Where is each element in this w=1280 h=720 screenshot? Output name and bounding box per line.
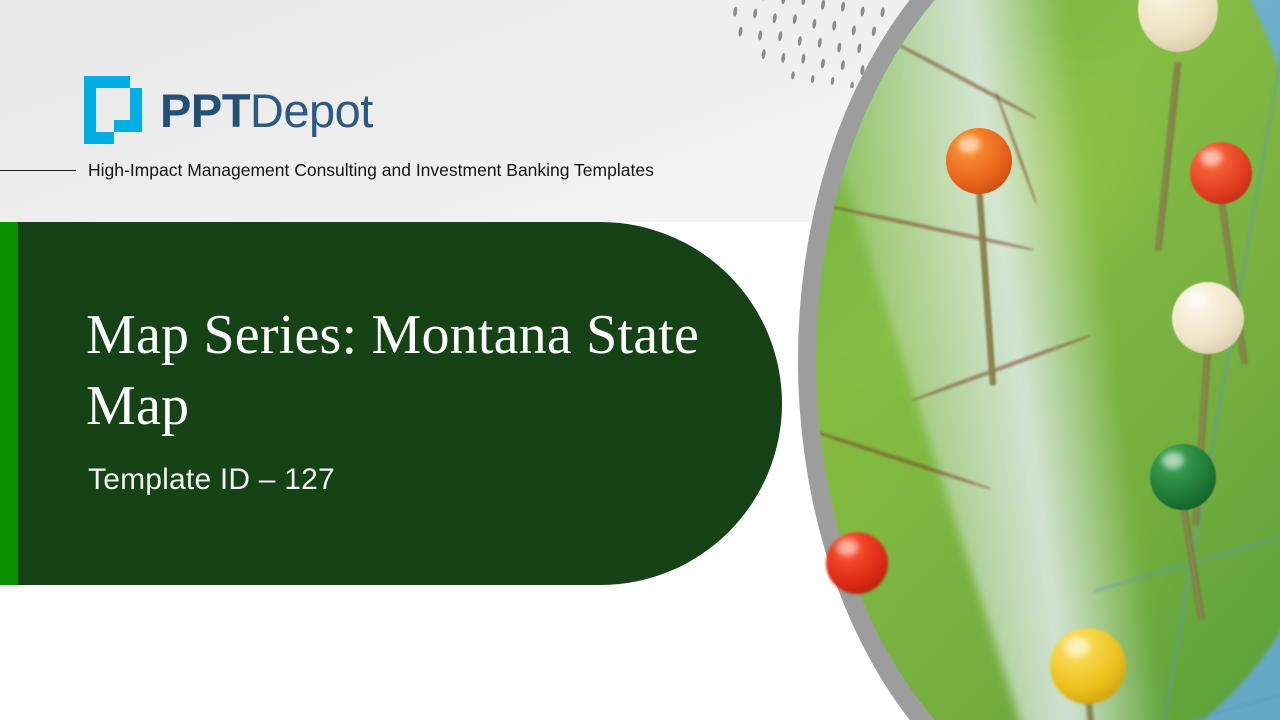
template-id-subtitle: Template ID – 127 (88, 463, 335, 497)
wordmark-ppt: PPT (160, 84, 250, 137)
wordmark-depot: Depot (250, 84, 373, 137)
tagline-text: High-Impact Management Consulting and In… (88, 160, 654, 181)
tagline-rule (0, 170, 76, 171)
pin-green-right (1150, 444, 1216, 674)
brand-wordmark: PPTDepot (160, 87, 373, 134)
map-photograph (790, 0, 1280, 720)
tagline: High-Impact Management Consulting and In… (0, 160, 760, 181)
ppt-depot-logo-mark (84, 76, 146, 144)
slide-canvas: PPTDepot High-Impact Management Consulti… (0, 0, 1280, 720)
brand-logo[interactable]: PPTDepot (84, 76, 373, 144)
pin-orange-upper-left (946, 128, 1012, 388)
page-title: Map Series: Montana State Map (86, 300, 746, 441)
pin-red-left (826, 532, 888, 652)
panel-accent-bar (0, 222, 18, 585)
pin-yellow-bottom (1050, 628, 1126, 720)
